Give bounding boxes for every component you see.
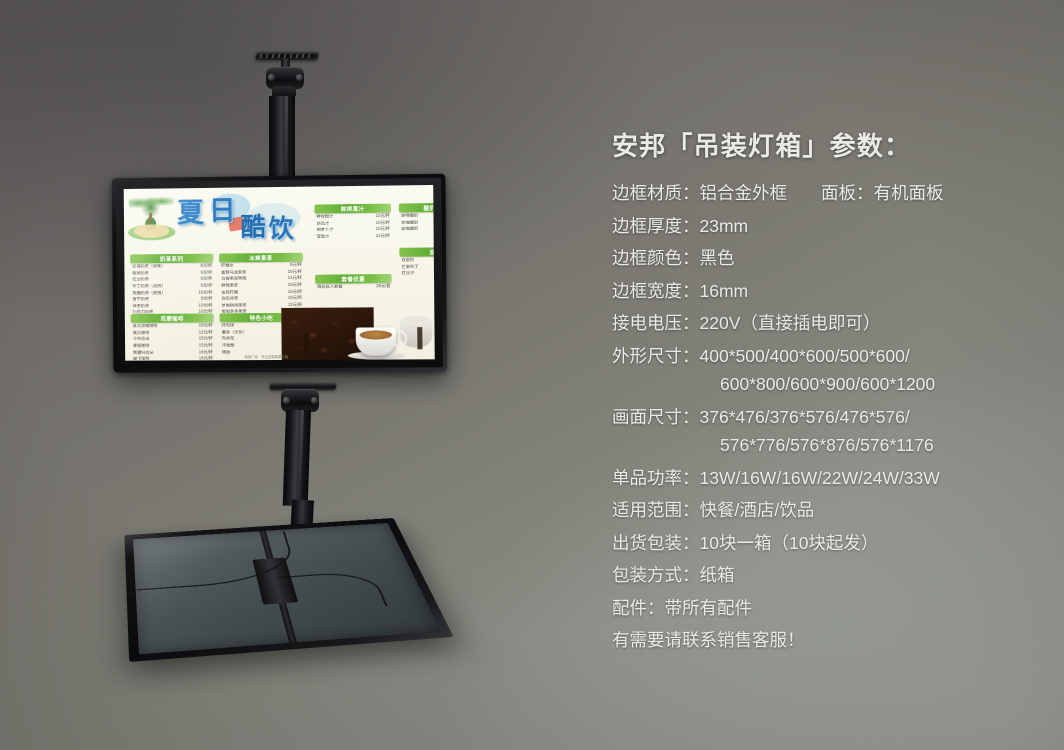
menu-item-name: 蓝莓酸奶	[401, 227, 418, 231]
menu-item-name: 西瓜汁	[317, 221, 330, 225]
menu-item-name: 柠檬水	[221, 264, 234, 268]
menu-item-name: 抹茶奶茶	[133, 304, 150, 308]
menu-item-name: 草莓酸奶	[401, 220, 418, 224]
menu-item-name: 鲜橙果茶	[221, 283, 238, 287]
menu-item-name: 洋葱圈	[222, 343, 235, 347]
menu-item-price: 12元/杯	[376, 234, 390, 238]
spec-label: 配件：	[612, 600, 665, 618]
menu-item-price: 18元/杯	[199, 356, 213, 360]
menu-item-name: 焦糖奶茶（热销）	[132, 290, 165, 294]
menu-item-row: 红豆沙8元/份	[400, 269, 435, 276]
menu-item-name: 西瓜冰茶	[221, 296, 238, 300]
menu-section-heading: 酸奶系列	[399, 203, 435, 213]
spec-value: 黑色	[700, 250, 735, 268]
menu-section-heading-label: 奶茶系列	[160, 254, 183, 262]
poster-title-char: 夏	[177, 200, 203, 227]
menu-item-name: 布丁奶茶（双拼）	[132, 284, 165, 288]
menu-item-name: 芒果布丁	[402, 264, 419, 268]
menu-section: 鲜榨果汁鲜榨橙汁12元/杯西瓜汁10元/杯胡萝卜汁10元/杯雪梨汁12元/杯	[314, 204, 391, 240]
poster-footer: 安邦广告 · 专业定制菜单灯箱	[245, 354, 289, 359]
spec-value: 10块一箱（10块起发）	[700, 535, 879, 553]
menu-item-name: 香芋奶茶	[133, 297, 150, 301]
spec-value: 220V（直接插电即可）	[700, 315, 881, 333]
cup-handle	[392, 330, 407, 347]
spec-panel: 安邦「吊装灯箱」参数： 边框材质：铝合金外框面板：有机面板边框厚度：23mm边框…	[612, 126, 1052, 650]
menu-item-price: 12元/杯	[199, 330, 213, 334]
menu-item-price: 6元/杯	[290, 263, 302, 267]
ceiling-plate-holes	[260, 54, 315, 58]
mount-pole	[269, 96, 295, 182]
spec-value: 纸箱	[700, 567, 735, 585]
mount-pole-highlight	[285, 96, 288, 182]
menu-item-price: 15元/杯	[199, 343, 213, 347]
photo-shadow	[417, 327, 422, 349]
spec-line: 画面尺寸：376*476/376*576/476*576/	[612, 409, 1052, 427]
menu-item-row: 蓝莓酸奶10元/杯	[399, 225, 435, 232]
menu-item-price: 9元/杯	[201, 297, 213, 301]
menu-item-name: 鲜榨橙汁	[317, 215, 334, 219]
spec-label-secondary: 面板：	[821, 185, 874, 203]
menu-section-heading-label: 酸奶系列	[423, 203, 434, 211]
lightbox-unit-back	[124, 518, 453, 662]
spec-line: 包装方式：纸箱	[612, 567, 1052, 585]
menu-item-name: 珍珠奶茶（原味）	[132, 264, 165, 268]
menu-item-name: 鸡米花	[222, 337, 235, 341]
spec-value: 带所有配件	[665, 600, 753, 618]
spec-line: 配件：带所有配件	[612, 600, 1052, 618]
poster-header-art: 夏 日 酷 饮	[126, 189, 315, 253]
menu-item-name: 美式咖啡	[133, 331, 150, 335]
menu-item-name: 薯条（大份）	[222, 330, 247, 334]
menu-poster: 夏 日 酷 饮 奶茶系列珍珠奶茶（原味）8元/杯椰果奶茶9元/杯红豆奶茶9元/杯…	[124, 185, 435, 361]
menu-item-name: 烤肠	[222, 350, 230, 354]
menu-item-name: 原味酸奶	[401, 214, 418, 218]
spec-value: 23mm	[700, 218, 749, 236]
poster-title-char: 日	[209, 198, 235, 225]
menu-item-price: 8元/杯	[200, 264, 212, 268]
spec-label: 边框颜色：	[612, 250, 700, 268]
spec-label: 边框材质：	[612, 185, 700, 203]
spec-value: 400*500/400*600/500*600/	[700, 348, 910, 366]
spec-value: 376*476/376*576/476*576/	[700, 409, 910, 427]
menu-item-price: 12元/杯	[376, 214, 390, 218]
island-icon	[128, 224, 175, 240]
menu-item-price: 9元/杯	[201, 283, 213, 287]
menu-item-name: 情侣双人套餐	[317, 285, 342, 289]
menu-item-price: 10元/杯	[376, 220, 390, 224]
menu-item-name: 胡萝卜汁	[317, 228, 334, 232]
bolt-icon	[296, 74, 303, 81]
menu-item-name: 草莓缤纷果茶	[222, 303, 247, 307]
menu-item-name: 意式浓缩咖啡	[133, 324, 158, 328]
spec-label: 出货包装：	[612, 535, 700, 553]
menu-item-name: 椰果奶茶	[132, 271, 149, 275]
spec-line: 接电电压：220V（直接插电即可）	[612, 315, 1052, 333]
menu-item-name: 蜜桃乌龙果茶	[221, 270, 246, 274]
menu-section-heading-label: 冰爽果茶	[249, 254, 273, 262]
menu-item-name: 金桔柠檬	[221, 290, 238, 294]
spec-label: 外形尺寸：	[612, 348, 700, 366]
spec-value: 铝合金外框	[700, 185, 788, 203]
spec-note: 有需要请联系销售客服！	[612, 632, 1052, 650]
spec-line: 边框宽度：16mm	[612, 283, 1052, 301]
menu-item-name: 雪梨汁	[317, 234, 330, 238]
spec-line: 出货包装：10块一箱（10块起发）	[612, 535, 1052, 553]
bolt-icon	[283, 397, 290, 404]
spec-label: 边框厚度：	[612, 218, 700, 236]
menu-section: 现磨咖啡意式浓缩咖啡10元/杯美式咖啡12元/杯卡布奇诺15元/杯拿铁咖啡15元…	[131, 313, 214, 360]
menu-item-price: 9元/杯	[201, 277, 213, 281]
spec-label: 接电电压：	[612, 315, 700, 333]
menu-item-price: 10元/杯	[199, 324, 213, 328]
menu-item-price: 10元/杯	[198, 303, 212, 307]
spec-label: 画面尺寸：	[612, 409, 700, 427]
spec-label: 单品功率：	[612, 470, 700, 488]
spec-line: 边框颜色：黑色	[612, 250, 1052, 268]
menu-item-name: 红豆奶茶	[132, 277, 149, 281]
menu-item-name: 双皮奶	[401, 258, 414, 262]
spec-title: 安邦「吊装灯箱」参数：	[612, 126, 1052, 163]
menu-section-heading-label: 现磨咖啡	[160, 314, 183, 322]
spec-value: 13W/16W/16W/22W/24W/33W	[700, 470, 940, 488]
bolt-icon	[311, 397, 318, 404]
menu-item-name: 红豆沙	[402, 271, 415, 275]
menu-item-price: 10元/杯	[288, 289, 302, 293]
photo-shadow	[304, 334, 309, 354]
poster-title-char: 饮	[269, 217, 293, 242]
menu-item-price: 28元/套	[376, 284, 390, 288]
menu-section: 套餐优惠情侣双人套餐28元/套	[315, 274, 392, 290]
menu-item-price: 10元/杯	[376, 227, 390, 231]
menu-section-heading: 鲜榨果汁	[314, 204, 391, 214]
spec-value: 16mm	[700, 283, 749, 301]
menu-item-row: 情侣双人套餐28元/套	[315, 283, 392, 290]
spec-line: 边框厚度：23mm	[612, 218, 1052, 236]
menu-item-name: 焦糖玛奇朵	[133, 350, 154, 354]
mount-pole-lower	[283, 410, 311, 507]
coffee-cup-icon	[356, 327, 397, 355]
spec-value: 快餐/酒店/饮品	[700, 502, 815, 520]
menu-section-heading: 奶茶系列	[130, 254, 213, 264]
bolt-icon	[268, 74, 275, 81]
menu-item-price: 15元/杯	[199, 337, 213, 341]
spec-list: 边框材质：铝合金外框面板：有机面板边框厚度：23mm边框颜色：黑色边框宽度：16…	[612, 185, 1052, 617]
menu-section: 酸奶系列原味酸奶8元/杯草莓酸奶10元/杯蓝莓酸奶10元/杯	[399, 203, 435, 233]
menu-item-price: 12元/杯	[288, 276, 302, 280]
lightbox-unit-front: 夏 日 酷 饮 奶茶系列珍珠奶茶（原味）8元/杯椰果奶茶9元/杯红豆奶茶9元/杯…	[112, 174, 447, 373]
menu-section-heading: 冰爽果茶	[219, 253, 303, 263]
menu-item-price: 10元/杯	[198, 290, 212, 294]
menu-section: 甜品双皮奶10元/份芒果布丁10元/份红豆沙8元/份	[399, 247, 434, 277]
lightbox-panel: 夏 日 酷 饮 奶茶系列珍珠奶茶（原味）8元/杯椰果奶茶9元/杯红豆奶茶9元/杯…	[124, 185, 435, 361]
menu-item-name: 百香果双响炮	[221, 277, 246, 281]
spec-value-secondary: 有机面板	[874, 185, 944, 203]
spec-line: 外形尺寸：400*500/400*600/500*600/	[612, 348, 1052, 366]
menu-item-name: 卡布奇诺	[133, 337, 150, 341]
menu-item-name: 炸鸡排	[222, 323, 235, 327]
menu-section-heading: 现磨咖啡	[131, 313, 214, 322]
menu-item-price: 10元/杯	[288, 283, 302, 287]
spec-line: 单品功率：13W/16W/16W/22W/24W/33W	[612, 470, 1052, 488]
menu-item-name: 拿铁咖啡	[133, 344, 150, 348]
menu-item-price: 18元/杯	[199, 350, 213, 354]
menu-item-price: 9元/杯	[201, 270, 213, 274]
menu-item-price: 10元/杯	[288, 270, 302, 274]
menu-section-heading-label: 套餐优惠	[341, 275, 365, 283]
menu-item-name: 摩卡咖啡	[133, 357, 150, 361]
spec-line: 适用范围：快餐/酒店/饮品	[612, 502, 1052, 520]
menu-section-heading: 套餐优惠	[315, 274, 392, 284]
menu-section-heading: 甜品	[399, 247, 434, 257]
poster-title-char: 酷	[241, 215, 265, 240]
menu-section-heading-label: 特色小吃	[250, 314, 274, 322]
menu-item-row: 摩卡咖啡18元/杯	[131, 355, 214, 360]
menu-section-heading-label: 鲜榨果汁	[341, 204, 365, 212]
menu-item-row: 雪梨汁12元/杯	[315, 233, 392, 240]
spec-label: 包装方式：	[612, 567, 700, 585]
spec-value-continuation: 600*800/600*900/600*1200	[720, 376, 1052, 394]
menu-section: 奶茶系列珍珠奶茶（原味）8元/杯椰果奶茶9元/杯红豆奶茶9元/杯布丁奶茶（双拼）…	[130, 254, 214, 323]
spec-label: 边框宽度：	[612, 283, 700, 301]
spec-value-continuation: 576*776/576*876/576*1176	[720, 437, 1052, 455]
spec-line: 边框材质：铝合金外框面板：有机面板	[612, 185, 1052, 203]
spec-label: 适用范围：	[612, 502, 700, 520]
coffee-photo	[281, 297, 435, 360]
